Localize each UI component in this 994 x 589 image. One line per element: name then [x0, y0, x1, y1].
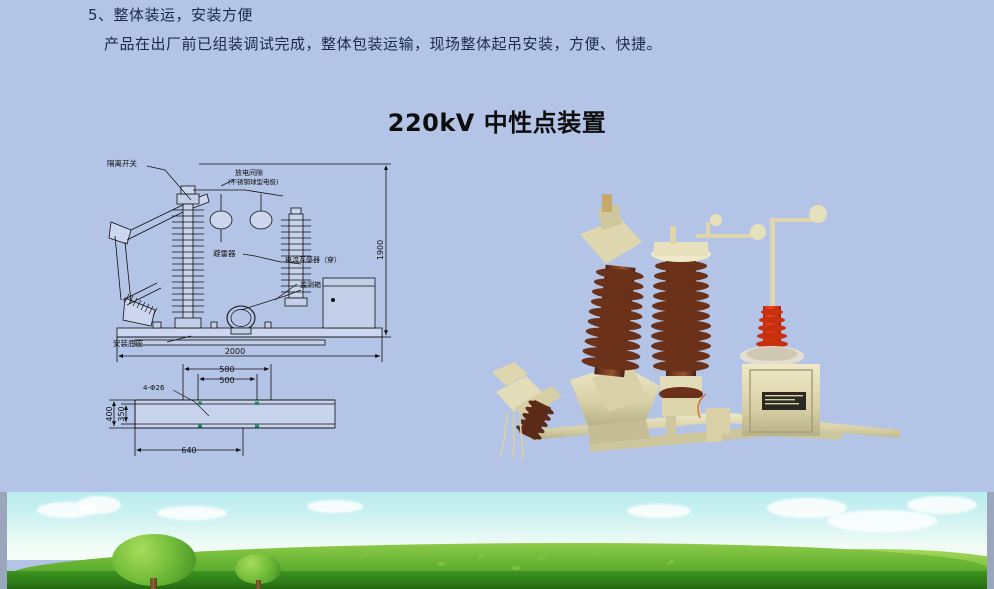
- footer-right-margin: [987, 492, 994, 589]
- label-monitor-box: 监测箱: [300, 280, 321, 289]
- section-heading: 5、整体装运，安装方便: [88, 4, 253, 25]
- dim-350: 350: [117, 406, 126, 421]
- tree-large: [112, 534, 196, 589]
- section-body: 产品在出厂前已组装调试完成，整体包装运输，现场整体起吊安装，方便、快捷。: [104, 33, 662, 54]
- slide: 5、整体装运，安装方便 产品在出厂前已组装调试完成，整体包装运输，现场整体起吊安…: [0, 0, 994, 589]
- dim-500: 500: [219, 376, 234, 385]
- dim-hole-spec: 4-Φ26: [143, 384, 165, 392]
- page-title: 220kV 中性点装置: [0, 103, 994, 138]
- tree-trunk: [150, 578, 157, 589]
- product-photo: [470, 180, 920, 470]
- footer-left-margin: [0, 492, 7, 589]
- tree-small: [235, 554, 281, 589]
- cloud-icon: [77, 496, 121, 514]
- cloud-icon: [627, 504, 691, 518]
- cloud-icon: [307, 500, 363, 513]
- dim-580: 580: [219, 365, 234, 374]
- technical-drawing: 隔离开关 放电间隙 (不锈钢球型电极) 避雷器 电流互感器（穿） 监测箱 安装底…: [95, 150, 435, 470]
- label-mounting-base: 安装底座: [113, 338, 143, 348]
- dim-400: 400: [105, 406, 114, 421]
- label-discharge-gap-line1: 放电间隙: [235, 168, 263, 177]
- nature-banner: [7, 492, 987, 589]
- dim-overall-width: 2000: [225, 347, 245, 356]
- cloud-icon: [157, 506, 227, 520]
- tree-trunk: [256, 580, 261, 589]
- dim-640: 640: [181, 446, 196, 455]
- label-isolating-switch: 隔离开关: [107, 158, 137, 168]
- label-arrester: 避雷器: [213, 248, 236, 258]
- label-discharge-gap-line2: (不锈钢球型电极): [228, 177, 279, 186]
- cloud-icon: [827, 510, 937, 532]
- cloud-icon: [907, 496, 977, 514]
- dim-overall-height: 1900: [376, 240, 385, 260]
- label-current-transformer: 电流互感器（穿）: [285, 255, 341, 264]
